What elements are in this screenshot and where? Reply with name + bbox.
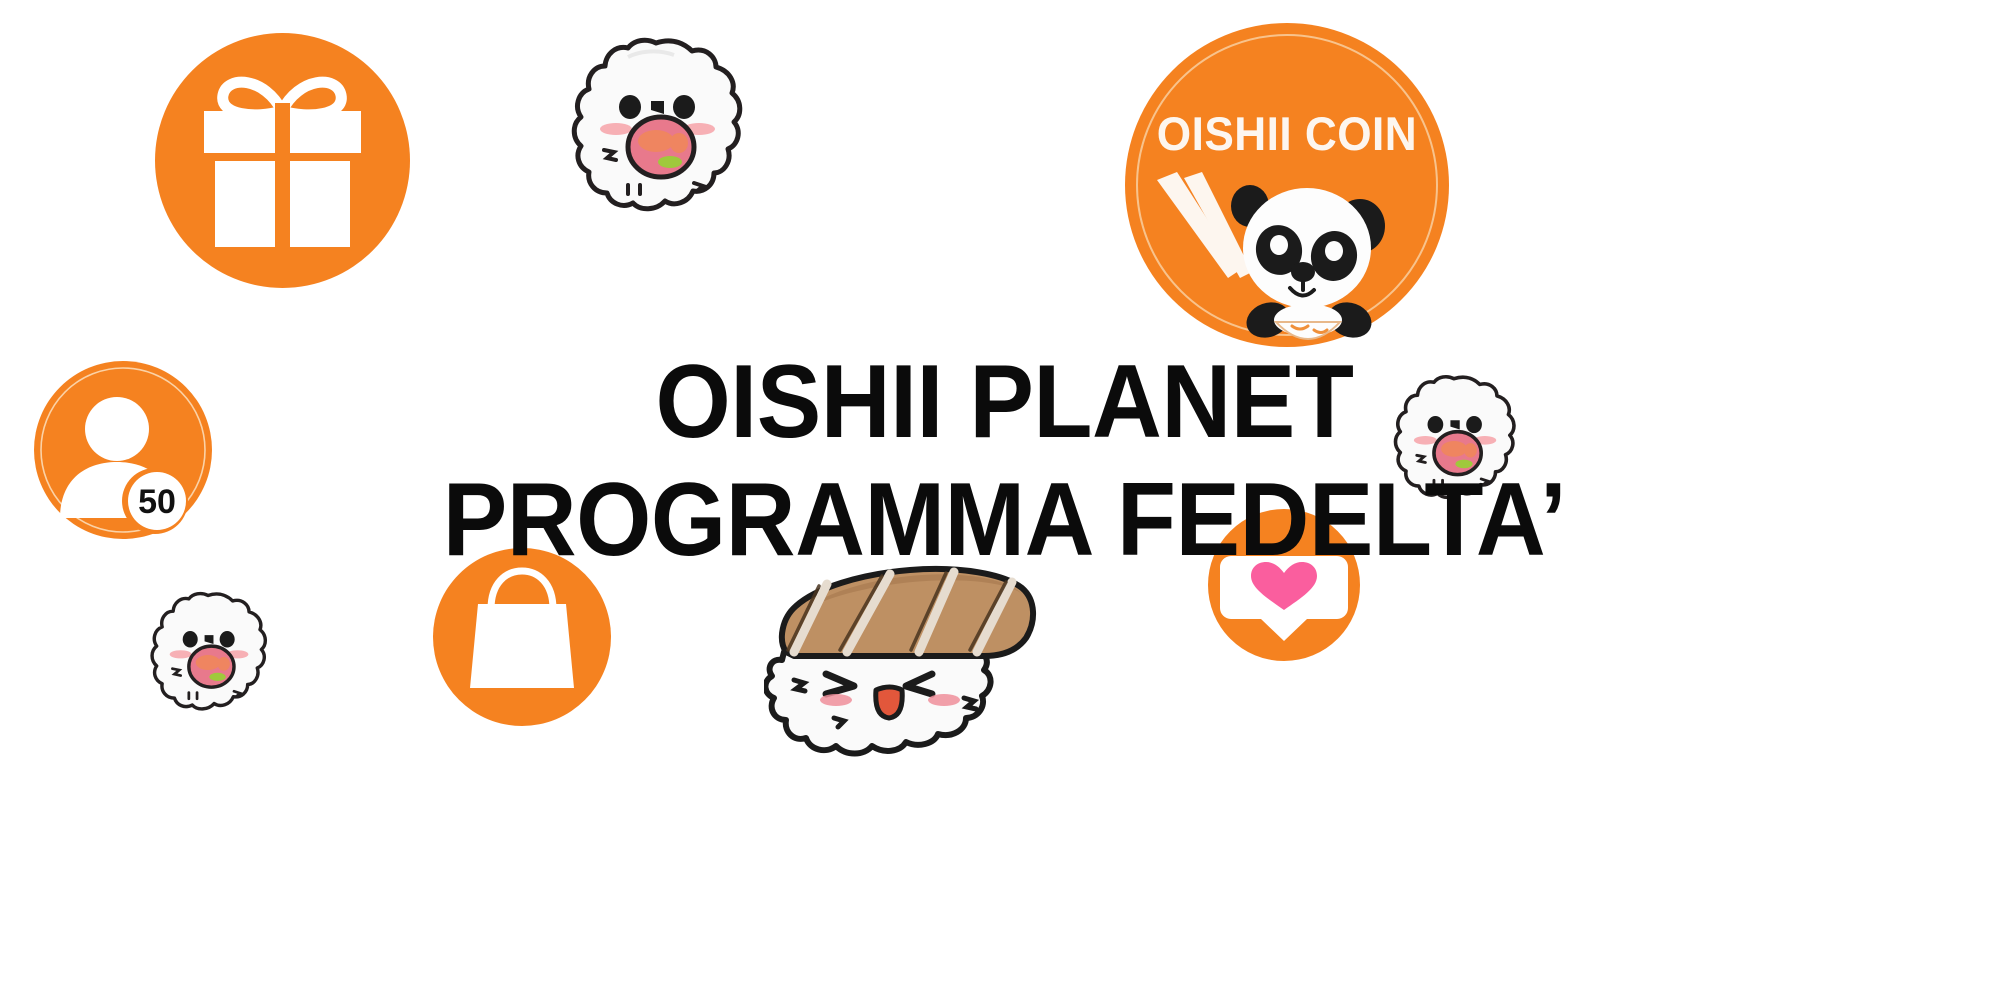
oishii-coin-badge[interactable]: OISHII COIN [1122,20,1452,350]
gift-icon[interactable] [155,33,410,288]
loyalty-program-banner: OISHII COIN [0,0,2009,1004]
page-title: OISHII PLANET PROGRAMMA FEDELTA’ [0,352,2009,572]
nigiri-sushi-character [764,548,1062,768]
headline-line-1: OISHII PLANET [70,352,1938,454]
maki-sushi-character-bottom [138,590,278,720]
headline-line-2: PROGRAMMA FEDELTA’ [70,470,1938,572]
coin-badge-title: OISHII COIN [1157,108,1417,161]
maki-sushi-character-top [566,35,746,225]
